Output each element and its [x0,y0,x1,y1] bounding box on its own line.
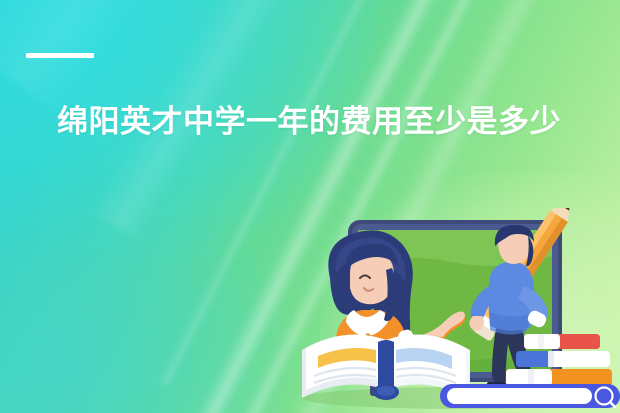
accent-dash [26,53,94,58]
education-illustration [292,208,620,413]
book-top [524,334,600,349]
page-title: 绵阳英才中学一年的费用至少是多少 [57,102,561,142]
banner: 绵阳英才中学一年的费用至少是多少 [0,0,620,413]
book-bottom [506,369,612,386]
book-middle [516,351,610,367]
background-glow-bottom-left [0,183,300,413]
search-input [447,388,592,404]
search-bar [440,384,620,408]
